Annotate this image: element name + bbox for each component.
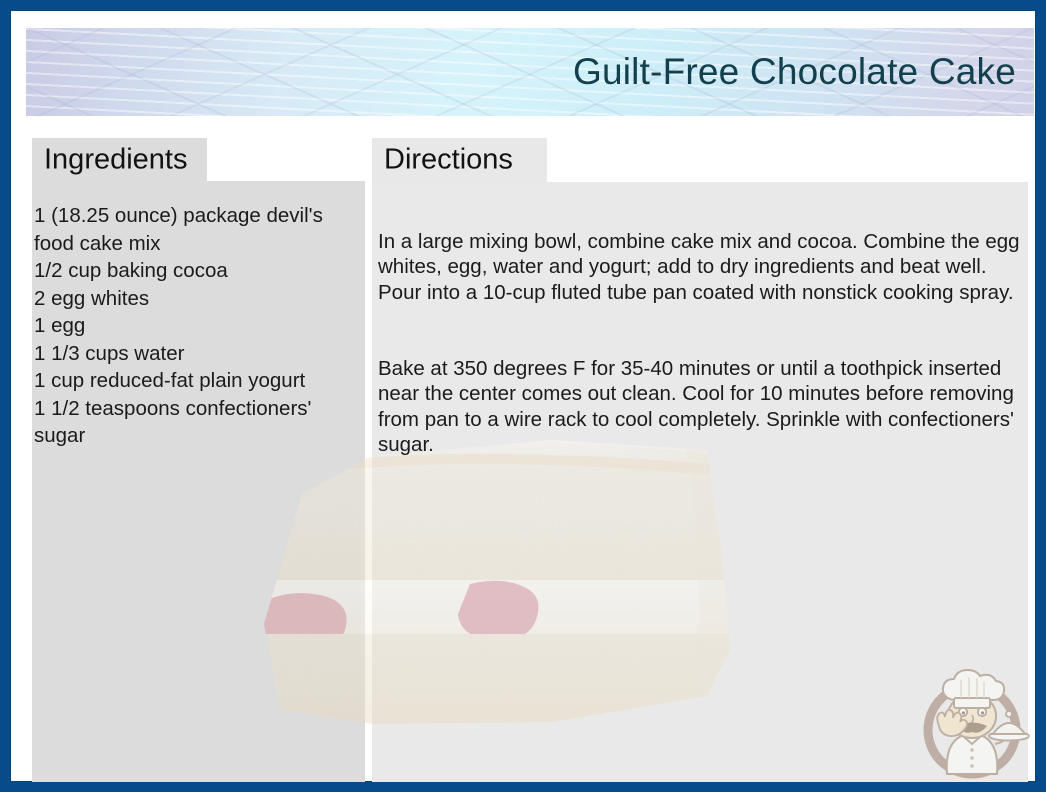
ingredients-heading-tab: Ingredients xyxy=(32,138,207,181)
directions-paragraph-2: Bake at 350 degrees F for 35-40 minutes … xyxy=(378,356,1020,458)
directions-text: In a large mixing bowl, combine cake mix… xyxy=(378,203,1020,483)
ingredients-list: 1 (18.25 ounce) package devil's food cak… xyxy=(34,202,344,450)
directions-heading: Directions xyxy=(384,144,513,177)
ingredients-heading: Ingredients xyxy=(44,143,188,176)
page-title: Guilt-Free Chocolate Cake xyxy=(573,51,1016,93)
header-banner: Guilt-Free Chocolate Cake xyxy=(26,28,1034,116)
directions-heading-tab: Directions xyxy=(372,138,547,182)
recipe-slide: Guilt-Free Chocolate Cake Ingredients 1 … xyxy=(0,0,1046,792)
directions-paragraph-1: In a large mixing bowl, combine cake mix… xyxy=(378,229,1020,306)
